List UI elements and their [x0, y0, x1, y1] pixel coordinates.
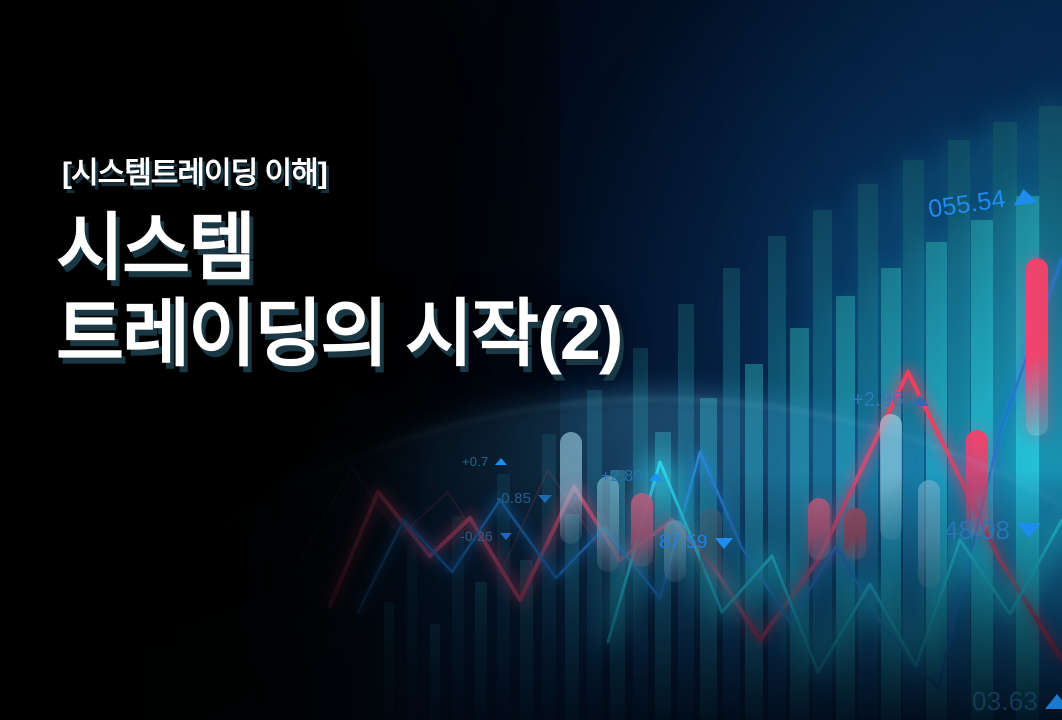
quote-label: +2.89 [601, 468, 663, 486]
triangle-up-icon [495, 458, 507, 465]
quote-value: 87.59 [659, 532, 708, 554]
quote-label: 87.59 [659, 532, 733, 554]
title-line-2: 트레이딩의 시작(2) [56, 292, 622, 376]
triangle-down-icon [500, 533, 512, 540]
quote-label: +0.7 [462, 454, 507, 469]
quote-value: +0.7 [462, 454, 488, 469]
price-candle [1026, 258, 1048, 436]
quote-value: 48.08 [944, 515, 1010, 546]
headline-block: [시스템트레이딩 이해] 시스템 트레이딩의 시작(2) [56, 148, 622, 375]
quote-label: +2.96 [852, 389, 929, 412]
triangle-up-icon [649, 473, 663, 481]
triangle-up-icon [1011, 188, 1037, 206]
quote-value: -0.26 [460, 528, 493, 544]
quote-value: +2.89 [601, 468, 642, 486]
quote-label: 03.63 [972, 686, 1062, 717]
triangle-down-icon [538, 495, 552, 503]
quote-label: -0.26 [460, 528, 512, 544]
quote-label: -0.85 [496, 490, 552, 507]
title-line-1: 시스템 [56, 206, 622, 290]
quote-value: 03.63 [972, 686, 1038, 717]
triangle-up-icon [911, 395, 929, 406]
triangle-up-icon [1045, 694, 1062, 709]
triangle-down-icon [1017, 523, 1041, 538]
quote-value: +2.96 [852, 389, 904, 412]
quote-value: -0.85 [496, 490, 531, 507]
banner-canvas: 055.54+2.96+2.89+0.7-0.85-0.2687.5948.08… [0, 0, 1062, 720]
triangle-down-icon [715, 538, 733, 549]
quote-label: 48.08 [944, 515, 1041, 546]
eyebrow-text: [시스템트레이딩 이해] [62, 148, 622, 192]
